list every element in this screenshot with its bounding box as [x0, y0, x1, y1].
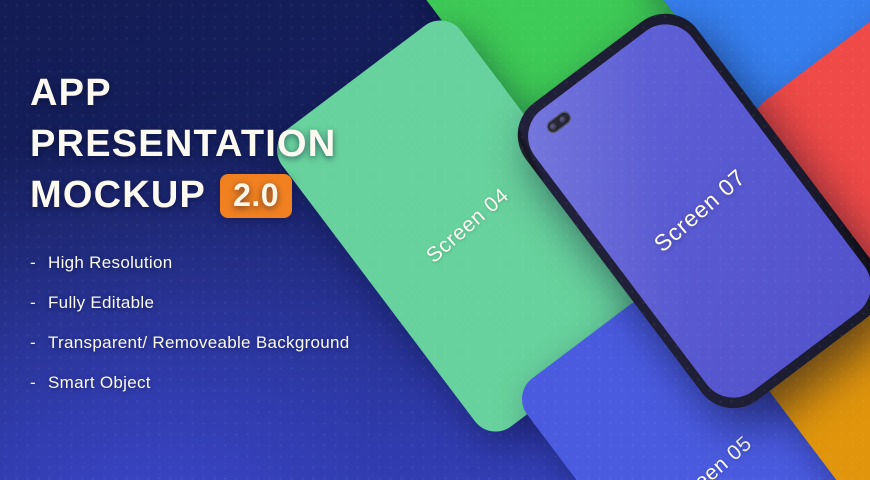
feature-item: - Smart Object	[30, 373, 450, 393]
feature-list: - High Resolution - Fully Editable - Tra…	[30, 253, 450, 393]
bullet-dash: -	[30, 293, 48, 313]
phone-screen-label: Screen 07	[648, 164, 750, 258]
title-line-2: PRESENTATION	[30, 119, 336, 170]
title-line-1: APP	[30, 68, 112, 119]
bullet-dash: -	[30, 253, 48, 273]
feature-item: - Fully Editable	[30, 293, 450, 313]
feature-label: Smart Object	[48, 373, 151, 393]
screen-card-05-label: Screen 05	[665, 432, 757, 480]
feature-label: High Resolution	[48, 253, 173, 273]
feature-label: Transparent/ Removeable Background	[48, 333, 350, 353]
bullet-dash: -	[30, 333, 48, 353]
version-badge: 2.0	[220, 174, 292, 218]
feature-item: - High Resolution	[30, 253, 450, 273]
feature-item: - Transparent/ Removeable Background	[30, 333, 450, 353]
title-line-3: MOCKUP	[30, 170, 206, 221]
page-title: APP PRESENTATION MOCKUP 2.0	[30, 68, 450, 221]
bullet-dash: -	[30, 373, 48, 393]
feature-label: Fully Editable	[48, 293, 154, 313]
mockup-canvas: S Screen 04 Screen 05 Screen 07 APP PRES…	[0, 0, 870, 480]
copy-block: APP PRESENTATION MOCKUP 2.0 - High Resol…	[30, 68, 450, 413]
front-camera-icon	[544, 109, 573, 136]
